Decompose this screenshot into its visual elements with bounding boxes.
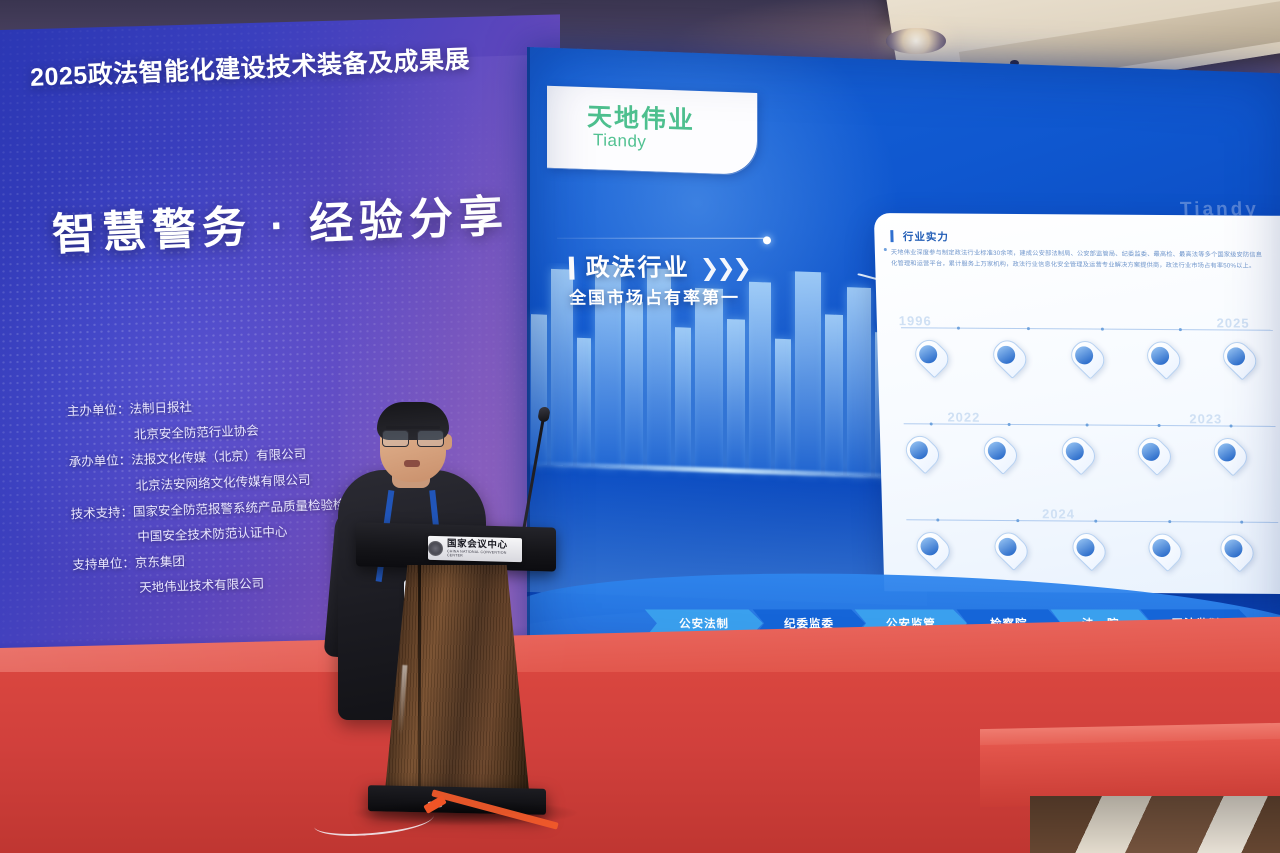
slide-content: Tiandy 天地伟业 Tiandy (527, 47, 1280, 699)
brand-name-cn: 天地伟业 (587, 97, 695, 137)
card-accent-bar (890, 230, 893, 242)
speaker-mouth (404, 460, 420, 467)
card-section-header: 行业实力 (890, 227, 949, 245)
timeline-milestone-icon (1142, 336, 1186, 380)
timeline-year: 2025 (1216, 315, 1249, 330)
credit-value: 法制日报社 (129, 400, 192, 416)
speaker-brow (386, 426, 440, 429)
led-presentation-screen: Tiandy 天地伟业 Tiandy (527, 47, 1280, 699)
timeline-year: 2022 (947, 410, 980, 425)
timeline-milestone-icon (1066, 336, 1110, 380)
credit-label: 承办单位： (68, 448, 131, 476)
credit-value: 京东集团 (135, 554, 185, 570)
heading-dot (763, 236, 771, 244)
credit-value: 法报文化传媒（北京）有限公司 (131, 447, 306, 467)
venue-name-en: CHINA NATIONAL CONVENTION CENTER (447, 550, 522, 559)
venue-sign-text: 国家会议中心 CHINA NATIONAL CONVENTION CENTER (447, 539, 522, 560)
chevron-right-icon: ❯❯❯ (700, 255, 750, 282)
slide-subheading: 全国市场占有率第一 (569, 283, 741, 308)
lectern: 国家会议中心 CHINA NATIONAL CONVENTION CENTER (356, 525, 556, 825)
timeline-milestone-icon (1132, 432, 1176, 476)
venue-sign: 国家会议中心 CHINA NATIONAL CONVENTION CENTER (428, 536, 522, 562)
eyeglasses-icon (382, 430, 444, 445)
timeline-year: 2023 (1189, 411, 1222, 426)
timeline-milestone-icon (910, 334, 954, 378)
timeline-milestone-icon (1143, 528, 1187, 572)
heading-accent-bar (569, 257, 575, 280)
lectern-seam (418, 565, 421, 801)
credit-label: 支持单位： (72, 551, 135, 579)
city-skyline-graphic (527, 262, 927, 606)
photo-scene: 2025政法智能化建设技术装备及成果展 智慧警务 · 经验分享 主办单位：法制日… (0, 0, 1280, 853)
timeline-axis (906, 519, 1278, 523)
credit-label: 主办单位： (67, 397, 130, 425)
bullet-icon (884, 248, 887, 251)
brand-name-en: Tiandy (593, 130, 646, 152)
timeline-milestone-icon (900, 430, 944, 474)
slide-heading: 政法行业 ❯❯❯ (568, 248, 749, 283)
heading-rule (557, 238, 767, 239)
timeline-year: 1996 (899, 313, 932, 328)
timeline-milestone-icon (911, 527, 955, 571)
card-section-label: 行业实力 (903, 229, 949, 244)
timeline-milestone-icon (988, 335, 1032, 379)
timeline-milestone-icon (1218, 337, 1262, 381)
ceiling-downlight (886, 28, 946, 54)
venue-floor-shadow (1030, 796, 1280, 853)
venue-emblem-icon (428, 540, 443, 555)
timeline-year: 2024 (1042, 506, 1075, 521)
timeline-milestone-icon (1215, 529, 1259, 573)
timeline-milestone-icon (1208, 433, 1252, 477)
company-timeline: 1996 2022 2023 2024 2025 (886, 305, 1280, 590)
timeline-milestone-icon (989, 527, 1033, 571)
heading-text: 政法行业 (585, 248, 690, 283)
venue-name-cn: 国家会议中心 (447, 539, 522, 550)
timeline-milestone-icon (1056, 432, 1100, 476)
timeline-milestone-icon (978, 431, 1022, 475)
timeline-milestone-icon (1067, 528, 1111, 572)
card-body-text: 天地伟业深度参与制定政法行业标准30余项，建成公安部法制局、公安部监管局、纪委监… (891, 247, 1267, 273)
industry-strength-card: 行业实力 天地伟业深度参与制定政法行业标准30余项，建成公安部法制局、公安部监管… (874, 213, 1280, 594)
credit-label: 技术支持： (70, 500, 133, 528)
tiandy-logo-tab: 天地伟业 Tiandy (547, 86, 757, 175)
